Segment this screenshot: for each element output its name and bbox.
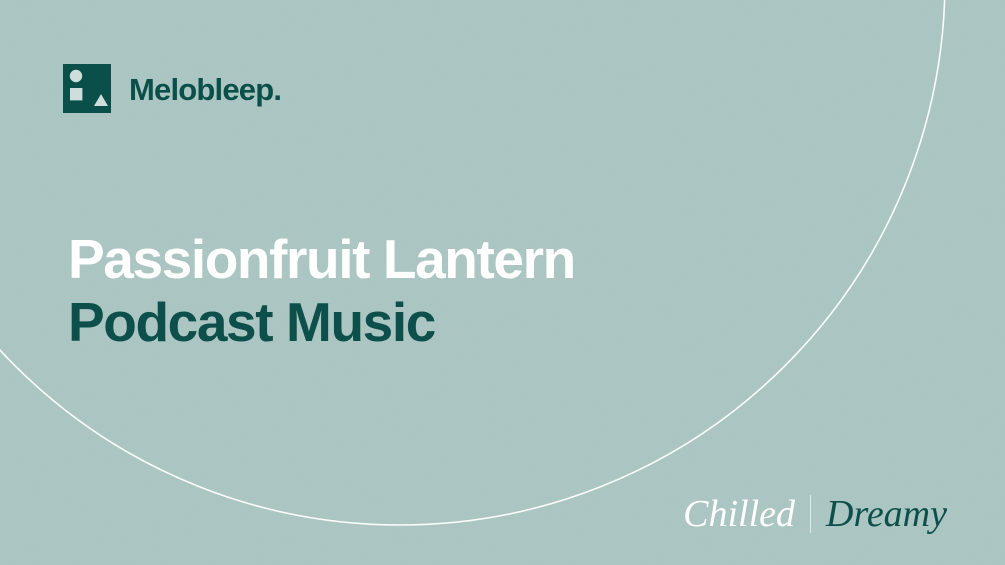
circle-shape xyxy=(70,70,82,82)
melobleep-logo-mark xyxy=(63,64,111,113)
square-shape xyxy=(70,88,82,100)
mood-divider xyxy=(810,495,811,533)
mood-tag-dreamy: Dreamy xyxy=(826,495,947,533)
mood-tag-chilled: Chilled xyxy=(683,495,795,533)
mood-tag-group: Chilled Dreamy xyxy=(683,495,947,533)
podcast-cover-canvas: Melobleep. Passionfruit Lantern Podcast … xyxy=(0,0,1005,565)
title-line-secondary: Podcast Music xyxy=(68,291,828,354)
page-title: Passionfruit Lantern Podcast Music xyxy=(68,228,828,354)
brand-logo-lockup[interactable]: Melobleep. xyxy=(63,64,281,113)
title-line-primary: Passionfruit Lantern xyxy=(68,228,828,291)
brand-wordmark: Melobleep. xyxy=(129,74,281,105)
